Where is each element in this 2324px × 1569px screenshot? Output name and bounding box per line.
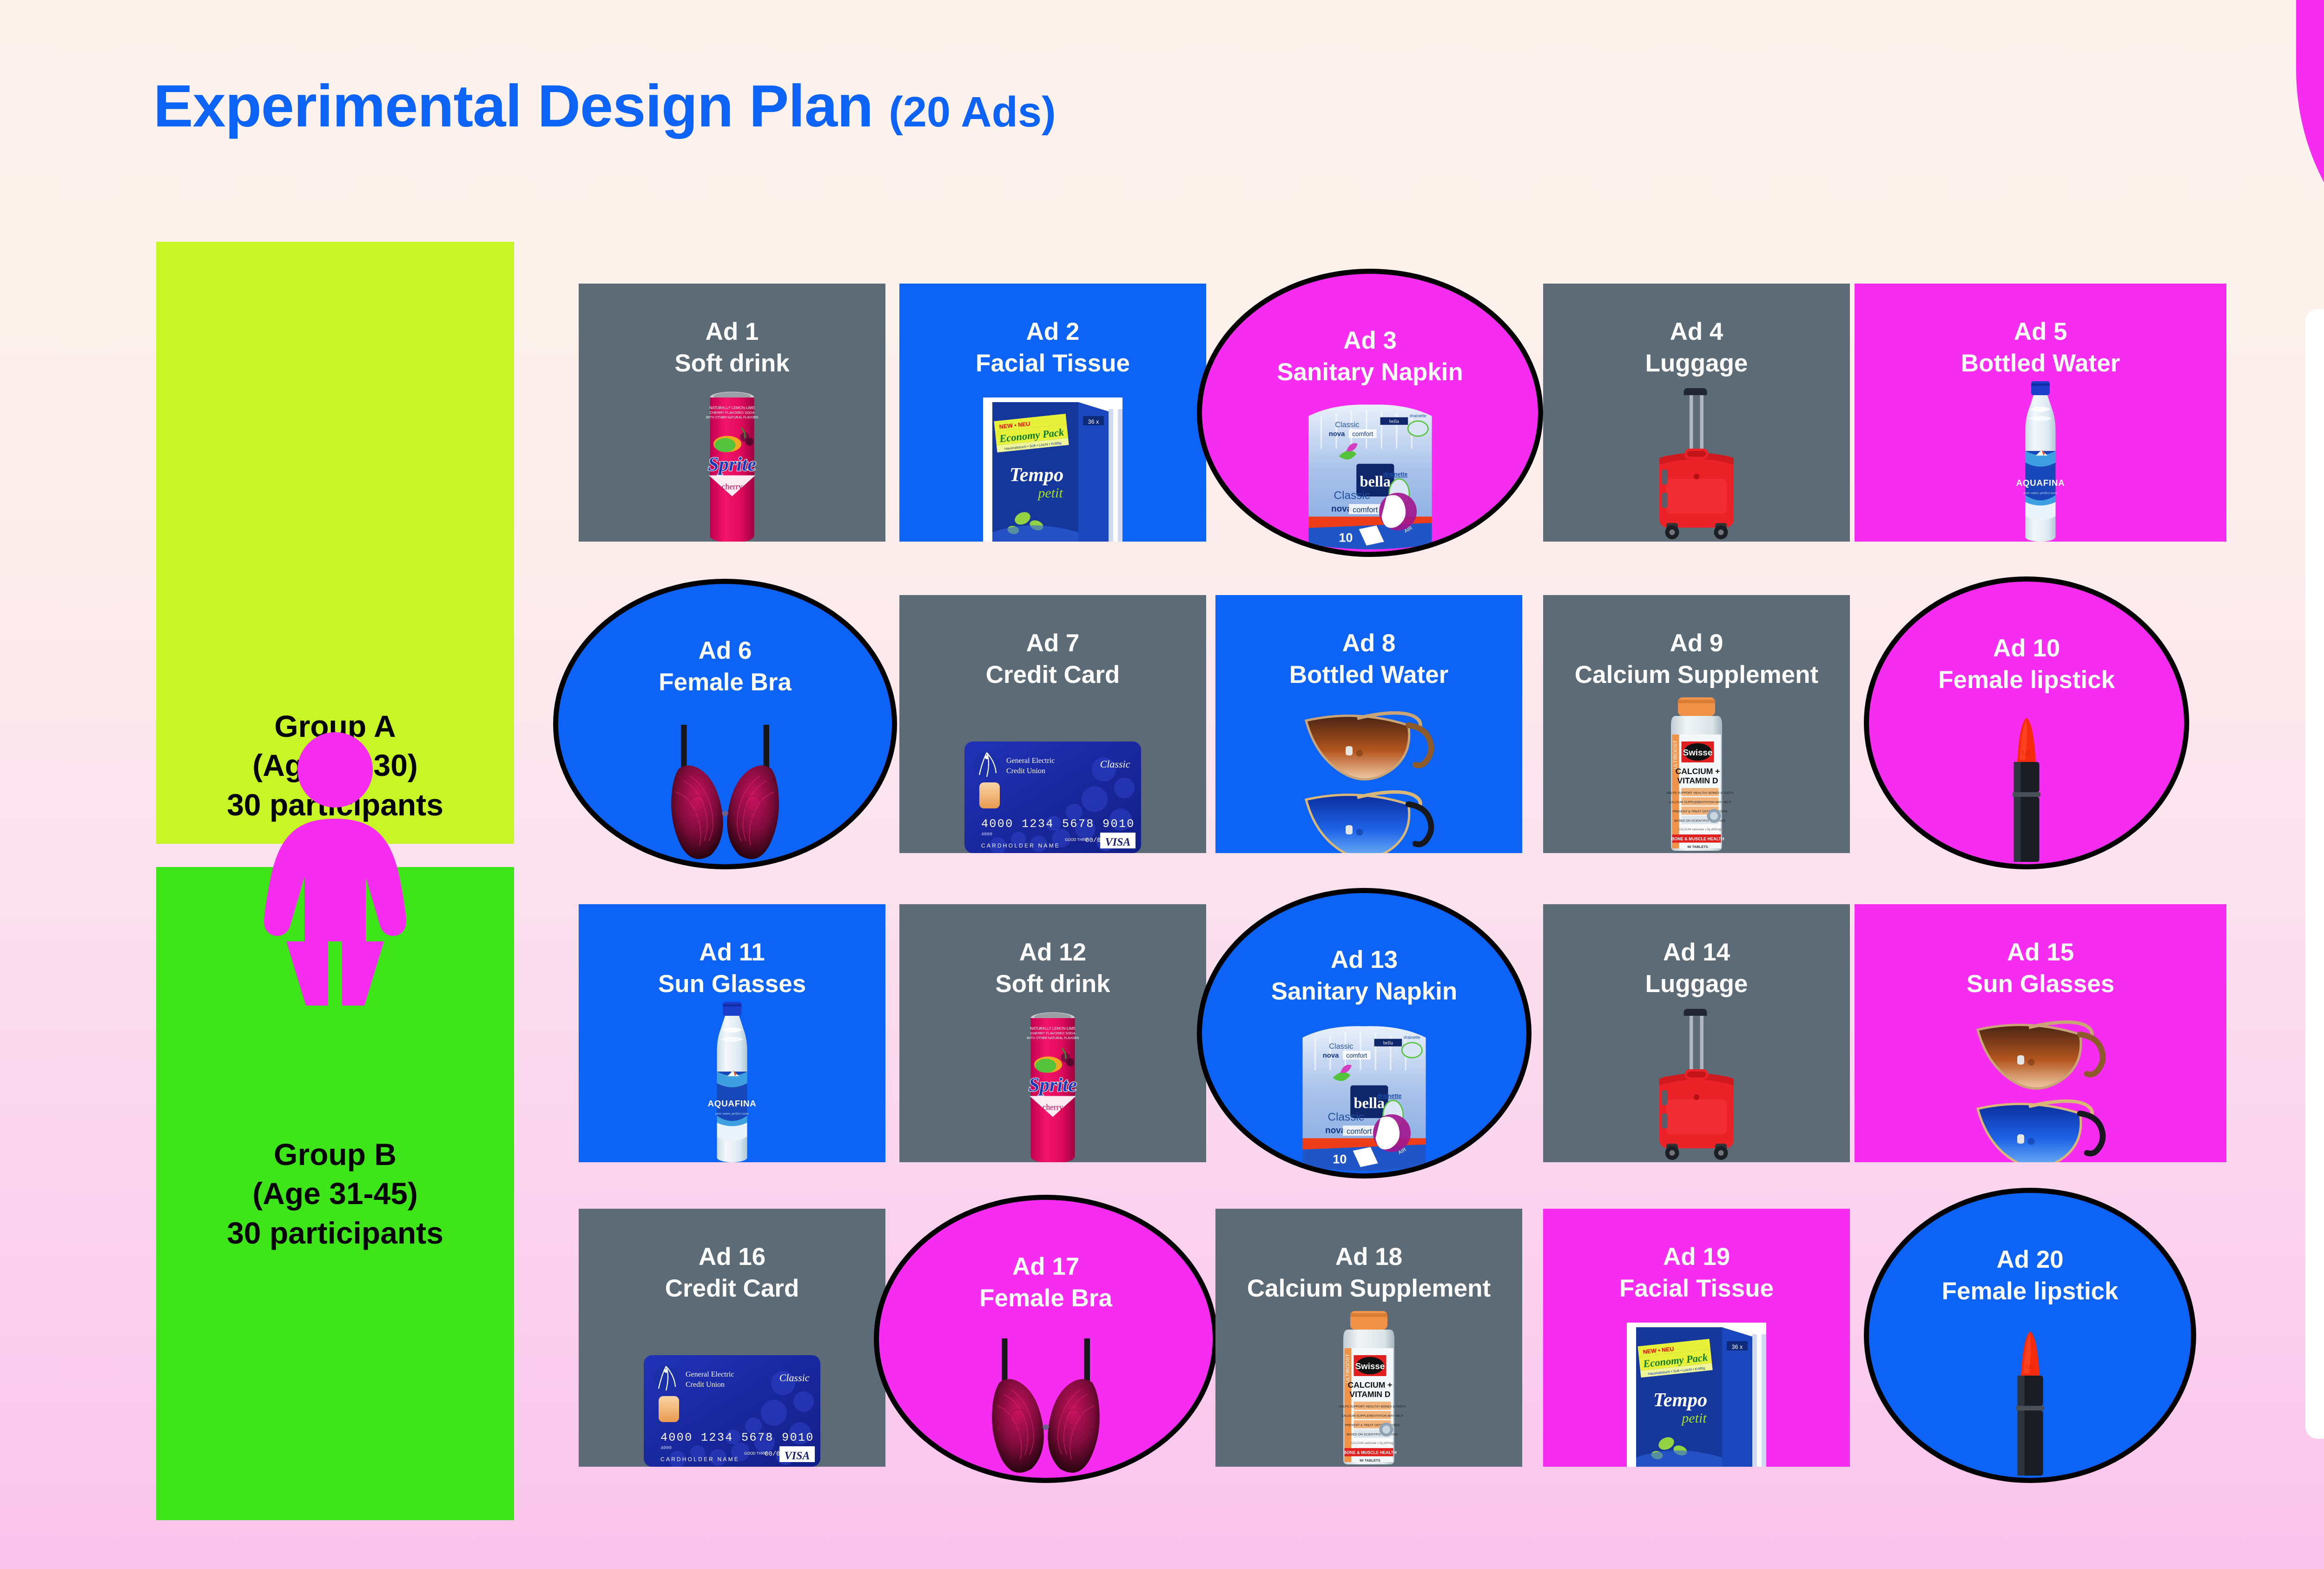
ad-product-image-bra	[879, 1317, 1213, 1478]
ad-card-product: Soft drink	[906, 968, 1200, 1000]
ad-card-11[interactable]: Ad 11 Sun Glasses AQUAFINA pure water, p…	[579, 904, 885, 1162]
ad-product-image-water-bottle: AQUAFINA pure water, perfect taste	[1855, 392, 2226, 542]
svg-text:General Electric: General Electric	[1006, 757, 1055, 765]
svg-text:comfort: comfort	[1352, 430, 1373, 437]
svg-text:Classic: Classic	[779, 1372, 810, 1384]
lipstick-art: Up	[1992, 711, 2061, 864]
ad-card-product: Sun Glasses	[585, 968, 879, 1000]
ad-card-label: Ad 6 Female Bra	[558, 635, 892, 698]
ad-card-5[interactable]: Ad 5 Bottled Water AQUAFINA pure water, …	[1855, 284, 2226, 542]
tissue-box-art: 36 x NEW • NEU Economy Pack Haushaltstuc…	[983, 397, 1122, 542]
ad-card-label: Ad 1 Soft drink	[579, 316, 885, 379]
credit-card-art: General Electric Credit Union Classic 40…	[644, 1355, 820, 1467]
svg-text:HELPS SUPPORT HEALTHY BONES &: HELPS SUPPORT HEALTHY BONES & TEETH	[1339, 1405, 1406, 1409]
ad-grid: Ad 1 Soft drink NATURALLY LEMON-LIME CHE…	[579, 284, 2226, 1518]
svg-text:36 x: 36 x	[1732, 1344, 1743, 1350]
ad-card-16[interactable]: Ad 16 Credit Card General Electric	[579, 1209, 885, 1467]
ad-card-body[interactable]: Ad 17 Female Bra	[874, 1195, 1218, 1483]
bra-art	[648, 725, 802, 864]
svg-text:36 x: 36 x	[1088, 418, 1099, 425]
ad-card-12[interactable]: Ad 12 Soft drink NATURALLY LEMON-LIME CH…	[899, 904, 1206, 1162]
ad-product-image-napkin-pack: Classic nova comfort bella drainette bel…	[1202, 391, 1538, 552]
svg-text:4000: 4000	[660, 1446, 672, 1451]
ad-card-number: Ad 18	[1222, 1241, 1516, 1273]
ad-card-label: Ad 13 Sanitary Napkin	[1202, 944, 1526, 1007]
svg-text:comfort: comfort	[1346, 1052, 1367, 1059]
suitcase-art	[1643, 379, 1750, 542]
slide-canvas: Experimental Design Plan (20 Ads) Group …	[0, 0, 2324, 1569]
svg-text:VISA: VISA	[1105, 836, 1131, 848]
ad-card-body[interactable]: Ad 20 Female lipstick Up	[1864, 1188, 2196, 1483]
ad-card-body[interactable]: Ad 5 Bottled Water AQUAFINA pure water, …	[1855, 284, 2226, 542]
svg-text:CALCIUM +: CALCIUM +	[1348, 1380, 1393, 1390]
ad-card-product: Credit Card	[585, 1273, 879, 1304]
svg-text:petit: petit	[1681, 1410, 1707, 1426]
tissue-box-art: 36 x NEW • NEU Economy Pack Haushaltstuc…	[1627, 1323, 1766, 1467]
ad-card-number: Ad 9	[1550, 628, 1843, 659]
ad-card-body[interactable]: Ad 4 Luggage	[1543, 284, 1850, 542]
svg-text:Up: Up	[2026, 1363, 2034, 1370]
water-bottle-art: AQUAFINA pure water, perfect taste	[2008, 379, 2073, 542]
ad-card-body[interactable]: Ad 12 Soft drink NATURALLY LEMON-LIME CH…	[899, 904, 1206, 1162]
svg-text:Swisse: Swisse	[1355, 1361, 1385, 1371]
svg-text:nova: nova	[1328, 430, 1345, 438]
ad-card-label: Ad 7 Credit Card	[899, 628, 1206, 691]
svg-text:4000 1234 5678 9010: 4000 1234 5678 9010	[660, 1431, 814, 1444]
ad-card-number: Ad 3	[1208, 325, 1532, 357]
svg-text:Tempo: Tempo	[1653, 1389, 1707, 1411]
ad-card-number: Ad 19	[1550, 1241, 1843, 1273]
ad-card-number: Ad 15	[1861, 937, 2220, 968]
ad-product-image-credit-card: General Electric Credit Union Classic 40…	[899, 703, 1206, 853]
legend-panel: 6 x Independent Variable 14 x Non-female…	[2305, 309, 2324, 1439]
group-b-line1: Group B	[227, 1135, 443, 1174]
ad-card-number: Ad 16	[585, 1241, 879, 1273]
ad-card-body[interactable]: Ad 14 Luggage	[1543, 904, 1850, 1162]
ad-product-image-tissue-box: 36 x NEW • NEU Economy Pack Haushaltstuc…	[899, 392, 1206, 542]
ad-card-label: Ad 10 Female lipstick	[1869, 633, 2184, 696]
page-title-sub: (20 Ads)	[889, 88, 1056, 137]
group-a-line3: 30 participants	[227, 785, 443, 824]
svg-text:Swisse: Swisse	[1683, 748, 1713, 757]
svg-text:CALCIUM SUPPLEMENTATION MAY HE: CALCIUM SUPPLEMENTATION MAY HELP	[1669, 801, 1731, 804]
ad-card-body[interactable]: Ad 8 Bottled Water	[1215, 595, 1522, 853]
group-a-line2: (Age 18-30)	[227, 746, 443, 785]
soda-can-art: NATURALLY LEMON-LIME CHERRY FLAVORED SOD…	[1018, 1009, 1088, 1162]
svg-text:cherry: cherry	[1043, 1103, 1063, 1112]
ad-card-body[interactable]: Ad 13 Sanitary Napkin Classic nova comfo…	[1197, 888, 1532, 1178]
ad-card-15[interactable]: Ad 15 Sun Glasses	[1855, 904, 2226, 1162]
ad-card-product: Calcium Supplement	[1222, 1273, 1516, 1304]
ad-product-image-lipstick: Up	[1869, 1312, 2191, 1478]
ad-card-label: Ad 11 Sun Glasses	[579, 937, 885, 1000]
ad-card-body[interactable]: Ad 10 Female lipstick Up	[1864, 576, 2189, 869]
ad-card-6[interactable]: Ad 6 Female Bra	[553, 579, 897, 869]
svg-text:CARDHOLDER NAME: CARDHOLDER NAME	[981, 842, 1060, 849]
svg-text:90 TABLETS: 90 TABLETS	[1687, 845, 1708, 849]
ad-card-14[interactable]: Ad 14 Luggage	[1543, 904, 1850, 1162]
svg-text:Classic: Classic	[1329, 1042, 1353, 1051]
svg-text:AQUAFINA: AQUAFINA	[708, 1099, 757, 1108]
ad-product-image-supplement-bottle: ULTIBOOST Swisse CALCIUM + VITAMIN D HEL…	[1215, 1317, 1522, 1467]
svg-text:Classic: Classic	[1334, 489, 1370, 502]
svg-text:4000: 4000	[981, 832, 992, 837]
ad-card-label: Ad 5 Bottled Water	[1855, 316, 2226, 379]
ad-product-image-suitcase	[1543, 1013, 1850, 1162]
ad-card-number: Ad 7	[906, 628, 1200, 659]
ad-card-7[interactable]: Ad 7 Credit Card General Electric	[899, 595, 1206, 853]
ad-card-label: Ad 20 Female lipstick	[1869, 1244, 2191, 1307]
svg-text:nova: nova	[1323, 1052, 1339, 1059]
ad-card-number: Ad 4	[1550, 316, 1843, 348]
ad-card-product: Facial Tissue	[906, 348, 1200, 379]
ad-product-image-napkin-pack: Classic nova comfort bella drainette bel…	[1202, 1011, 1526, 1173]
ad-product-image-water-bottle: AQUAFINA pure water, perfect taste	[579, 1013, 885, 1162]
sanitary-napkin-pack-art: Classic nova comfort bella drainette bel…	[1301, 398, 1440, 552]
svg-text:VITAMIN D: VITAMIN D	[1349, 1390, 1390, 1399]
svg-text:General Electric: General Electric	[686, 1370, 734, 1378]
svg-text:Classic: Classic	[1335, 421, 1359, 429]
ad-card-body[interactable]: Ad 7 Credit Card General Electric	[899, 595, 1206, 853]
page-title-main: Experimental Design Plan	[153, 72, 873, 140]
ad-card-body[interactable]: Ad 3 Sanitary Napkin Classic nova comfor…	[1197, 269, 1543, 557]
ad-card-label: Ad 2 Facial Tissue	[899, 316, 1206, 379]
svg-text:BONE & MUSCLE HEALTH: BONE & MUSCLE HEALTH	[1344, 1450, 1397, 1455]
ad-card-product: Female Bra	[565, 667, 885, 698]
ad-card-label: Ad 8 Bottled Water	[1215, 628, 1522, 691]
svg-text:Tempo: Tempo	[1010, 464, 1063, 486]
svg-text:GOOD THRU: GOOD THRU	[744, 1451, 767, 1456]
svg-text:NATURALLY LEMON-LIME: NATURALLY LEMON-LIME	[1030, 1026, 1076, 1031]
group-a-label: Group A (Age 18-30) 30 participants	[227, 707, 443, 824]
ad-card-17[interactable]: Ad 17 Female Bra	[874, 1195, 1218, 1483]
ad-card-body[interactable]: Ad 18 Calcium Supplement ULTIBOOST Swiss…	[1215, 1209, 1522, 1467]
ad-card-body[interactable]: Ad 19 Facial Tissue 36 x NEW • NEU Econo…	[1543, 1209, 1850, 1467]
ad-card-body[interactable]: Ad 16 Credit Card General Electric	[579, 1209, 885, 1467]
svg-text:Credit Union: Credit Union	[686, 1381, 725, 1389]
svg-text:Sprite: Sprite	[708, 454, 756, 476]
ad-card-body[interactable]: Ad 9 Calcium Supplement ULTIBOOST Swisse…	[1543, 595, 1850, 853]
svg-text:10: 10	[1339, 530, 1353, 544]
ad-product-image-credit-card: General Electric Credit Union Classic 40…	[579, 1317, 885, 1467]
ad-card-number: Ad 10	[1875, 633, 2178, 664]
ad-card-label: Ad 16 Credit Card	[579, 1241, 885, 1304]
ad-card-number: Ad 2	[906, 316, 1200, 348]
svg-text:pure water, perfect taste: pure water, perfect taste	[715, 1112, 749, 1116]
svg-text:CHERRY FLAVORED SODA: CHERRY FLAVORED SODA	[710, 410, 755, 415]
ad-product-image-sunglasses-pair	[1855, 1013, 2226, 1162]
svg-text:petit: petit	[1037, 485, 1063, 501]
svg-text:CALCIUM carbonate 1.5g (600mg): CALCIUM carbonate 1.5g (600mg)	[1351, 1442, 1394, 1445]
participant-groups: Group A (Age 18-30) 30 participants Grou…	[156, 242, 514, 1520]
svg-text:Credit Union: Credit Union	[1006, 767, 1045, 775]
svg-text:VISA: VISA	[785, 1450, 810, 1462]
ad-card-label: Ad 12 Soft drink	[899, 937, 1206, 1000]
ad-card-number: Ad 5	[1861, 316, 2220, 348]
svg-text:GOOD THRU: GOOD THRU	[1065, 838, 1088, 842]
ad-product-image-soda-can: NATURALLY LEMON-LIME CHERRY FLAVORED SOD…	[899, 1013, 1206, 1162]
ad-card-label: Ad 4 Luggage	[1543, 316, 1850, 379]
ad-card-number: Ad 11	[585, 937, 879, 968]
ad-product-image-sunglasses-pair	[1215, 703, 1522, 853]
ad-card-number: Ad 14	[1550, 937, 1843, 968]
svg-text:CHERRY FLAVORED SODA: CHERRY FLAVORED SODA	[1030, 1031, 1076, 1035]
ad-card-label: Ad 3 Sanitary Napkin	[1202, 325, 1538, 388]
ad-product-image-bra	[558, 702, 892, 864]
ad-card-product: Calcium Supplement	[1550, 659, 1843, 691]
svg-text:ULTIBOOST: ULTIBOOST	[1345, 1354, 1351, 1383]
water-bottle-art: AQUAFINA pure water, perfect taste	[700, 1000, 765, 1162]
svg-text:cherry: cherry	[722, 482, 743, 491]
supplement-bottle-art: ULTIBOOST Swisse CALCIUM + VITAMIN D HEL…	[1327, 1309, 1411, 1467]
ad-card-label: Ad 14 Luggage	[1543, 937, 1850, 1000]
lipstick-art: Up	[1995, 1324, 2065, 1478]
ad-card-label: Ad 9 Calcium Supplement	[1543, 628, 1850, 691]
svg-text:AQUAFINA: AQUAFINA	[2016, 478, 2065, 488]
svg-text:CALCIUM +: CALCIUM +	[1676, 767, 1720, 776]
ad-card-product: Soft drink	[585, 348, 879, 379]
ad-card-product: Credit Card	[906, 659, 1200, 691]
svg-text:comfort: comfort	[1353, 506, 1378, 514]
ad-card-product: Facial Tissue	[1550, 1273, 1843, 1304]
ad-card-number: Ad 8	[1222, 628, 1516, 659]
ad-card-4[interactable]: Ad 4 Luggage	[1543, 284, 1850, 542]
soda-can-art: NATURALLY LEMON-LIME CHERRY FLAVORED SOD…	[697, 388, 767, 542]
ad-card-10[interactable]: Ad 10 Female lipstick Up	[1864, 576, 2189, 869]
group-b-label: Group B (Age 31-45) 30 participants	[227, 1135, 443, 1252]
ad-card-body[interactable]: Ad 1 Soft drink NATURALLY LEMON-LIME CHE…	[579, 284, 885, 542]
ad-card-product: Female Bra	[885, 1283, 1206, 1314]
svg-text:VITAMIN D: VITAMIN D	[1677, 776, 1718, 785]
ad-card-body[interactable]: Ad 15 Sun Glasses	[1855, 904, 2226, 1162]
supplement-bottle-art: ULTIBOOST Swisse CALCIUM + VITAMIN D HEL…	[1655, 695, 1738, 853]
svg-text:Classic: Classic	[1328, 1111, 1364, 1123]
ad-card-label: Ad 19 Facial Tissue	[1543, 1241, 1850, 1304]
ad-card-label: Ad 18 Calcium Supplement	[1215, 1241, 1522, 1304]
ad-card-body[interactable]: Ad 6 Female Bra	[553, 579, 897, 869]
svg-text:ULTIBOOST: ULTIBOOST	[1673, 740, 1678, 769]
svg-text:90 TABLETS: 90 TABLETS	[1360, 1458, 1380, 1463]
group-b-line3: 30 participants	[227, 1213, 443, 1252]
ad-card-1[interactable]: Ad 1 Soft drink NATURALLY LEMON-LIME CHE…	[579, 284, 885, 542]
ad-card-19[interactable]: Ad 19 Facial Tissue 36 x NEW • NEU Econo…	[1543, 1209, 1850, 1467]
ad-card-18[interactable]: Ad 18 Calcium Supplement ULTIBOOST Swiss…	[1215, 1209, 1522, 1467]
ad-product-image-soda-can: NATURALLY LEMON-LIME CHERRY FLAVORED SOD…	[579, 392, 885, 542]
ad-product-image-lipstick: Up	[1869, 700, 2184, 864]
ad-product-image-tissue-box: 36 x NEW • NEU Economy Pack Haushaltstuc…	[1543, 1317, 1850, 1467]
ad-card-20[interactable]: Ad 20 Female lipstick Up	[1864, 1188, 2196, 1483]
bra-art	[969, 1338, 1122, 1478]
svg-text:WITH OTHER NATURAL FLAVORS: WITH OTHER NATURAL FLAVORS	[1027, 1037, 1079, 1040]
ad-card-label: Ad 15 Sun Glasses	[1855, 937, 2226, 1000]
svg-text:Up: Up	[2022, 749, 2031, 757]
ad-card-3[interactable]: Ad 3 Sanitary Napkin Classic nova comfor…	[1197, 269, 1543, 557]
ad-card-body[interactable]: Ad 2 Facial Tissue 36 x NEW • NEU Econom…	[899, 284, 1206, 542]
svg-text:CALCIUM SUPPLEMENTATION MAY HE: CALCIUM SUPPLEMENTATION MAY HELP	[1341, 1415, 1404, 1418]
ad-card-product: Bottled Water	[1222, 659, 1516, 691]
svg-text:HELPS SUPPORT HEALTHY BONES &: HELPS SUPPORT HEALTHY BONES & TEETH	[1666, 792, 1734, 795]
svg-text:pure water, perfect taste: pure water, perfect taste	[2023, 491, 2058, 495]
credit-card-art: General Electric Credit Union Classic 40…	[964, 741, 1141, 853]
svg-text:10: 10	[1333, 1152, 1347, 1166]
group-b-box: Group B (Age 31-45) 30 participants	[156, 867, 514, 1520]
ad-card-product: Bottled Water	[1861, 348, 2220, 379]
ad-card-product: Luggage	[1550, 968, 1843, 1000]
ad-card-product: Sun Glasses	[1861, 968, 2220, 1000]
svg-text:WITH OTHER NATURAL FLAVORS: WITH OTHER NATURAL FLAVORS	[706, 416, 759, 419]
ad-product-image-suitcase	[1543, 392, 1850, 542]
svg-text:drainette: drainette	[1383, 471, 1407, 478]
svg-text:drainette: drainette	[1409, 414, 1426, 418]
ad-card-product: Sanitary Napkin	[1208, 357, 1532, 388]
decorative-blob	[2296, 0, 2324, 311]
ad-card-number: Ad 17	[885, 1251, 1206, 1283]
svg-text:CARDHOLDER NAME: CARDHOLDER NAME	[660, 1456, 739, 1463]
ad-product-image-supplement-bottle: ULTIBOOST Swisse CALCIUM + VITAMIN D HEL…	[1543, 703, 1850, 853]
ad-card-body[interactable]: Ad 11 Sun Glasses AQUAFINA pure water, p…	[579, 904, 885, 1162]
group-a-line1: Group A	[227, 707, 443, 746]
group-a-box: Group A (Age 18-30) 30 participants	[156, 242, 514, 844]
group-b-line2: (Age 31-45)	[227, 1174, 443, 1213]
svg-text:Classic: Classic	[1100, 758, 1130, 770]
ad-card-number: Ad 12	[906, 937, 1200, 968]
ad-card-8[interactable]: Ad 8 Bottled Water	[1215, 595, 1522, 853]
ad-card-label: Ad 17 Female Bra	[879, 1251, 1213, 1314]
ad-card-2[interactable]: Ad 2 Facial Tissue 36 x NEW • NEU Econom…	[899, 284, 1206, 542]
sunglasses-pair-art	[1292, 700, 1446, 853]
ad-card-number: Ad 1	[585, 316, 879, 348]
svg-text:CALCIUM carbonate 1.5g (600mg): CALCIUM carbonate 1.5g (600mg)	[1678, 828, 1722, 831]
svg-text:drainette: drainette	[1377, 1093, 1402, 1099]
sanitary-napkin-pack-art: Classic nova comfort bella drainette bel…	[1294, 1020, 1434, 1173]
svg-text:NATURALLY LEMON-LIME: NATURALLY LEMON-LIME	[709, 406, 755, 410]
svg-text:Sprite: Sprite	[1029, 1074, 1077, 1096]
page-title: Experimental Design Plan (20 Ads)	[153, 72, 1056, 140]
svg-text:bella: bella	[1389, 419, 1399, 424]
svg-text:drainette: drainette	[1404, 1035, 1420, 1040]
suitcase-art	[1643, 1000, 1750, 1162]
ad-card-product: Sanitary Napkin	[1208, 976, 1520, 1007]
ad-card-product: Female lipstick	[1875, 664, 2178, 696]
ad-card-13[interactable]: Ad 13 Sanitary Napkin Classic nova comfo…	[1197, 888, 1532, 1178]
svg-text:bella: bella	[1383, 1040, 1393, 1046]
svg-text:comfort: comfort	[1347, 1127, 1372, 1136]
ad-card-number: Ad 20	[1875, 1244, 2185, 1276]
ad-card-product: Female lipstick	[1875, 1276, 2185, 1307]
svg-text:4000 1234 5678 9010: 4000 1234 5678 9010	[981, 817, 1135, 831]
ad-card-product: Luggage	[1550, 348, 1843, 379]
ad-card-number: Ad 6	[565, 635, 885, 667]
svg-text:BONE & MUSCLE HEALTH: BONE & MUSCLE HEALTH	[1671, 837, 1724, 841]
ad-card-number: Ad 13	[1208, 944, 1520, 976]
ad-card-9[interactable]: Ad 9 Calcium Supplement ULTIBOOST Swisse…	[1543, 595, 1850, 853]
sunglasses-pair-art	[1964, 1009, 2117, 1162]
